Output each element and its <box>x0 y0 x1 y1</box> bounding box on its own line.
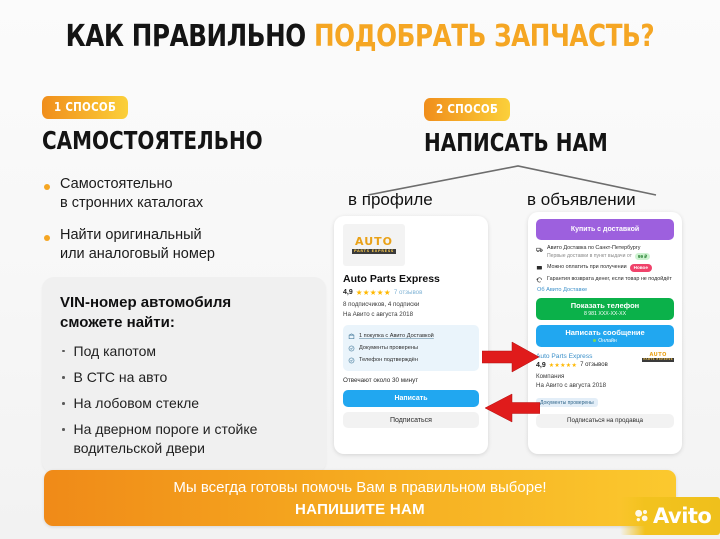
stars-icon: ★★★★★ <box>356 288 391 297</box>
poster-canvas: КАК ПРАВИЛЬНО ПОДОБРАТЬ ЗАПЧАСТЬ? 1 СПОС… <box>0 0 720 539</box>
write-message-button[interactable]: Написать <box>343 390 479 407</box>
list-item: Телефон подтверждён <box>348 354 474 366</box>
avito-watermark: Avito <box>620 497 720 535</box>
online-status-text: Онлайн <box>598 338 617 344</box>
cta-line-1: Мы всегда готовы помочь Вам в правильном… <box>173 479 546 497</box>
shop-name: Auto Parts Express <box>343 273 479 285</box>
documents-verified-chip: Документы проверены <box>536 398 598 407</box>
reviews-link[interactable]: 7 отзывов <box>580 362 608 368</box>
delivery-box-icon <box>348 333 355 340</box>
avito-wordmark: Avito <box>653 504 711 528</box>
vin-info-card: VIN-номер автомобилясможете найти: Под к… <box>42 277 326 473</box>
bullet-dot-icon <box>62 376 65 379</box>
profile-card[interactable]: AUTO PARTS EXPRESS Auto Parts Express 4,… <box>334 216 488 454</box>
about-delivery-link[interactable]: Об Авито Доставке <box>537 287 674 293</box>
listing-card[interactable]: Купить с доставкой Авито Доставка по Сан… <box>528 212 682 454</box>
cta-line-2: НАПИШИТЕ НАМ <box>295 501 425 518</box>
send-message-label: Написать сообщение <box>565 328 644 337</box>
pointer-arrow-icon <box>484 393 540 423</box>
bullet-dot-icon <box>44 184 50 190</box>
vin-item-text: Под капотом <box>74 342 157 360</box>
send-message-button[interactable]: Написать сообщение Онлайн <box>536 325 674 347</box>
bullet-text: Найти оригинальныйили аналоговый номер <box>60 226 215 264</box>
list-item: На дверном пороге и стойкеводительской д… <box>60 420 310 456</box>
delivery-item-text: Гарантия возврата денег, если товар не п… <box>547 276 672 283</box>
check-circle-icon <box>348 357 355 364</box>
list-item: Найти оригинальныйили аналоговый номер <box>42 226 322 264</box>
bullet-dot-icon <box>62 402 65 405</box>
show-phone-label: Показать телефон <box>571 301 639 310</box>
reviews-link[interactable]: 7 отзывов <box>394 289 423 296</box>
bullet-dot-icon <box>62 350 65 353</box>
subscribe-seller-button[interactable]: Подписаться на продавца <box>536 414 674 428</box>
method-two-column: 2 СПОСОБ НАПИСАТЬ НАМ <box>424 98 564 155</box>
list-item: В СТС на авто <box>60 368 310 386</box>
trust-item-text: 1 покупка с Авито Доставкой <box>359 333 434 339</box>
list-item: Авито Доставка по Санкт-Петербургу Первы… <box>536 245 674 260</box>
bullet-dot-icon <box>44 235 50 241</box>
seller-block: Auto Parts Express 4,9 ★★★★★ 7 отзывов К… <box>536 353 674 391</box>
vin-item-text: На лобовом стекле <box>74 394 200 412</box>
seller-logo-sub: PARTS EXPRESS <box>642 358 674 362</box>
show-phone-button[interactable]: Показать телефон 8 981 XXX-XX-XX <box>536 298 674 320</box>
method-one-heading: САМОСТОЯТЕЛЬНО <box>42 128 266 153</box>
list-item: Самостоятельнов стронних каталогах <box>42 175 322 213</box>
list-item: 1 покупка с Авито Доставкой <box>348 330 474 342</box>
followers-count: 8 подписчиков, 4 подписки <box>343 300 479 310</box>
pointer-arrow-icon <box>482 341 540 373</box>
delivery-item-text: Можно оплатить при получении <box>547 264 627 271</box>
return-arrow-icon <box>536 276 543 283</box>
list-item: Документы проверены <box>348 342 474 354</box>
rating-value: 4,9 <box>343 289 353 296</box>
method-one-pill: 1 СПОСОБ <box>42 96 128 119</box>
vin-item-text: В СТС на авто <box>74 368 168 386</box>
delivery-item-text: Авито Доставка по Санкт-Петербургу <box>547 245 640 251</box>
avito-dots-icon <box>634 508 650 524</box>
trust-info-box: 1 покупка с Авито Доставкой Документы пр… <box>343 325 479 371</box>
subscribe-button[interactable]: Подписаться <box>343 412 479 428</box>
list-item: Гарантия возврата денег, если товар не п… <box>536 276 674 284</box>
title-part-accent: ПОДОБРАТЬ ЗАПЧАСТЬ? <box>314 19 654 54</box>
method-two-heading: НАПИСАТЬ НАМ <box>424 130 536 155</box>
show-phone-number: 8 981 XXX-XX-XX <box>584 311 626 317</box>
vin-card-title: VIN-номер автомобилясможете найти: <box>60 293 310 333</box>
bullet-dot-icon <box>62 428 65 431</box>
method-one-bullets: Самостоятельнов стронних каталогах Найти… <box>42 175 322 265</box>
seller-logo-main: AUTO <box>649 352 666 358</box>
rating-row: 4,9 ★★★★★ 7 отзывов <box>536 362 608 369</box>
rating-row: 4,9 ★★★★★ 7 отзывов <box>343 288 479 297</box>
trust-item-text: Документы проверены <box>359 345 418 351</box>
answer-time: Отвечают около 30 минут <box>343 377 479 384</box>
price-badge: 99 ₽ <box>635 253 650 260</box>
list-item: Под капотом <box>60 342 310 360</box>
method-one-column: 1 СПОСОБ САМОСТОЯТЕЛЬНО Самостоятельнов … <box>42 96 322 278</box>
seller-name-link[interactable]: Auto Parts Express <box>536 353 608 360</box>
bullet-text: Самостоятельнов стронних каталогах <box>60 175 203 213</box>
online-status: Онлайн <box>593 338 617 344</box>
wallet-icon <box>536 264 543 271</box>
vin-item-text: На дверном пороге и стойкеводительской д… <box>74 420 258 456</box>
method-two-pill: 2 СПОСОБ <box>424 98 510 121</box>
seller-type: Компания <box>536 372 608 382</box>
delivery-item-sub: Первые доставки в пункт выдачи от <box>547 253 632 260</box>
check-circle-icon <box>348 345 355 352</box>
cta-banner: Мы всегда готовы помочь Вам в правильном… <box>44 470 676 526</box>
seller-since: На Авито с августа 2018 <box>536 381 608 391</box>
stars-icon: ★★★★★ <box>549 362 577 369</box>
list-item: Можно оплатить при получении Новое <box>536 264 674 272</box>
new-badge: Новое <box>630 264 652 272</box>
online-dot-icon <box>593 339 596 342</box>
title-part-dark: КАК ПРАВИЛЬНО <box>66 19 306 54</box>
truck-icon <box>536 246 543 253</box>
list-item: На лобовом стекле <box>60 394 310 412</box>
seller-logo: AUTO PARTS EXPRESS <box>642 353 674 362</box>
shop-logo: AUTO PARTS EXPRESS <box>343 224 405 266</box>
member-since: На Авито с августа 2018 <box>343 310 479 320</box>
buy-with-delivery-button[interactable]: Купить с доставкой <box>536 219 674 240</box>
branch-label-listing: в объявлении <box>527 190 636 210</box>
page-title: КАК ПРАВИЛЬНО ПОДОБРАТЬ ЗАПЧАСТЬ? <box>0 22 720 52</box>
branch-label-profile: в профиле <box>348 190 433 210</box>
shop-logo-main: AUTO <box>355 236 393 247</box>
shop-logo-sub: PARTS EXPRESS <box>352 249 396 254</box>
trust-item-text: Телефон подтверждён <box>359 357 418 363</box>
